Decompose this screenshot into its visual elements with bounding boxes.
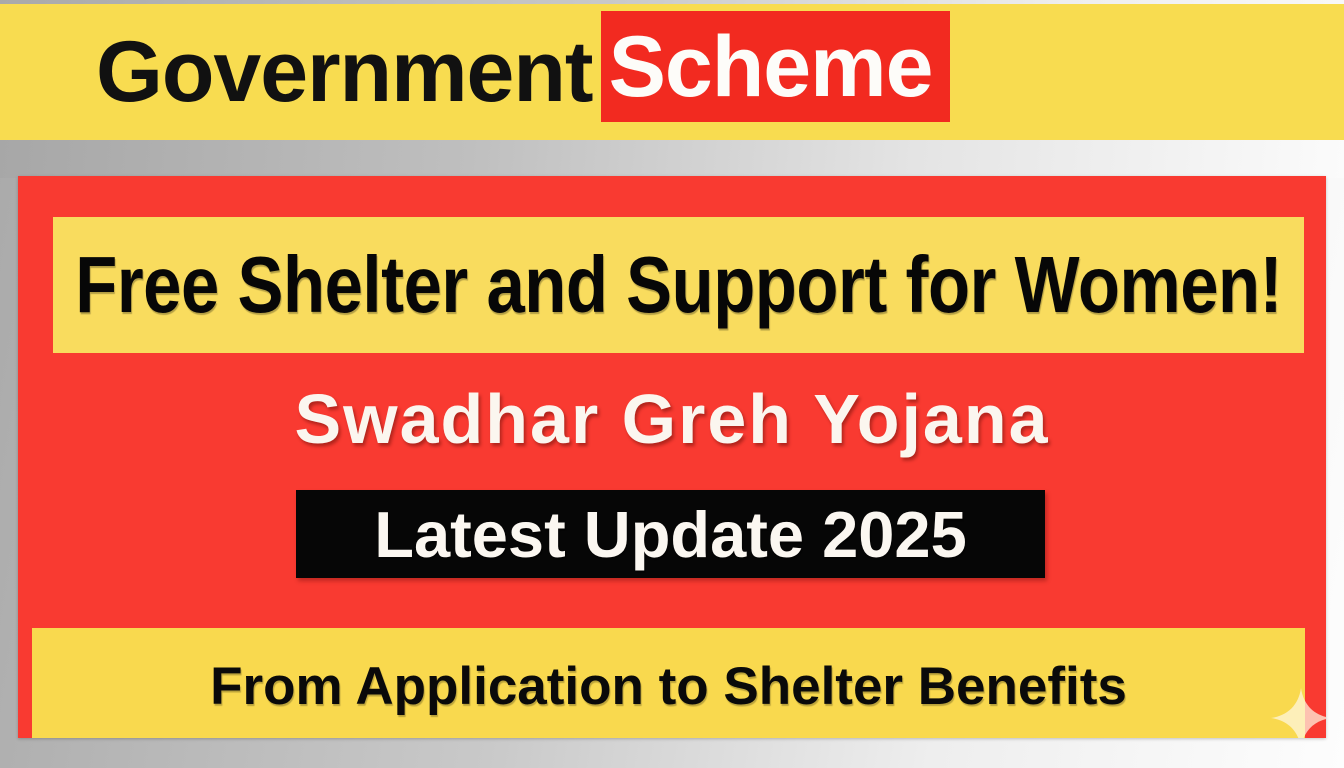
poster-canvas: Government Scheme Free Shelter and Suppo…: [0, 0, 1344, 768]
header-band: Government Scheme: [0, 4, 1344, 140]
subheadline-banner: From Application to Shelter Benefits: [32, 628, 1305, 738]
subheadline-text: From Application to Shelter Benefits: [210, 660, 1127, 713]
headline-banner: Free Shelter and Support for Women!: [53, 217, 1304, 353]
update-badge: Latest Update 2025: [296, 490, 1045, 578]
divider-strip: [0, 140, 1344, 178]
headline-text: Free Shelter and Support for Women!: [75, 245, 1282, 325]
header-title-group: Government Scheme: [96, 4, 950, 140]
main-content-panel: Free Shelter and Support for Women! Swad…: [18, 176, 1326, 738]
page-title-primary: Government: [96, 4, 601, 140]
page-title-highlight: Scheme: [601, 11, 951, 122]
scheme-name: Swadhar Greh Yojana: [18, 384, 1326, 454]
update-badge-label: Latest Update 2025: [374, 502, 966, 567]
